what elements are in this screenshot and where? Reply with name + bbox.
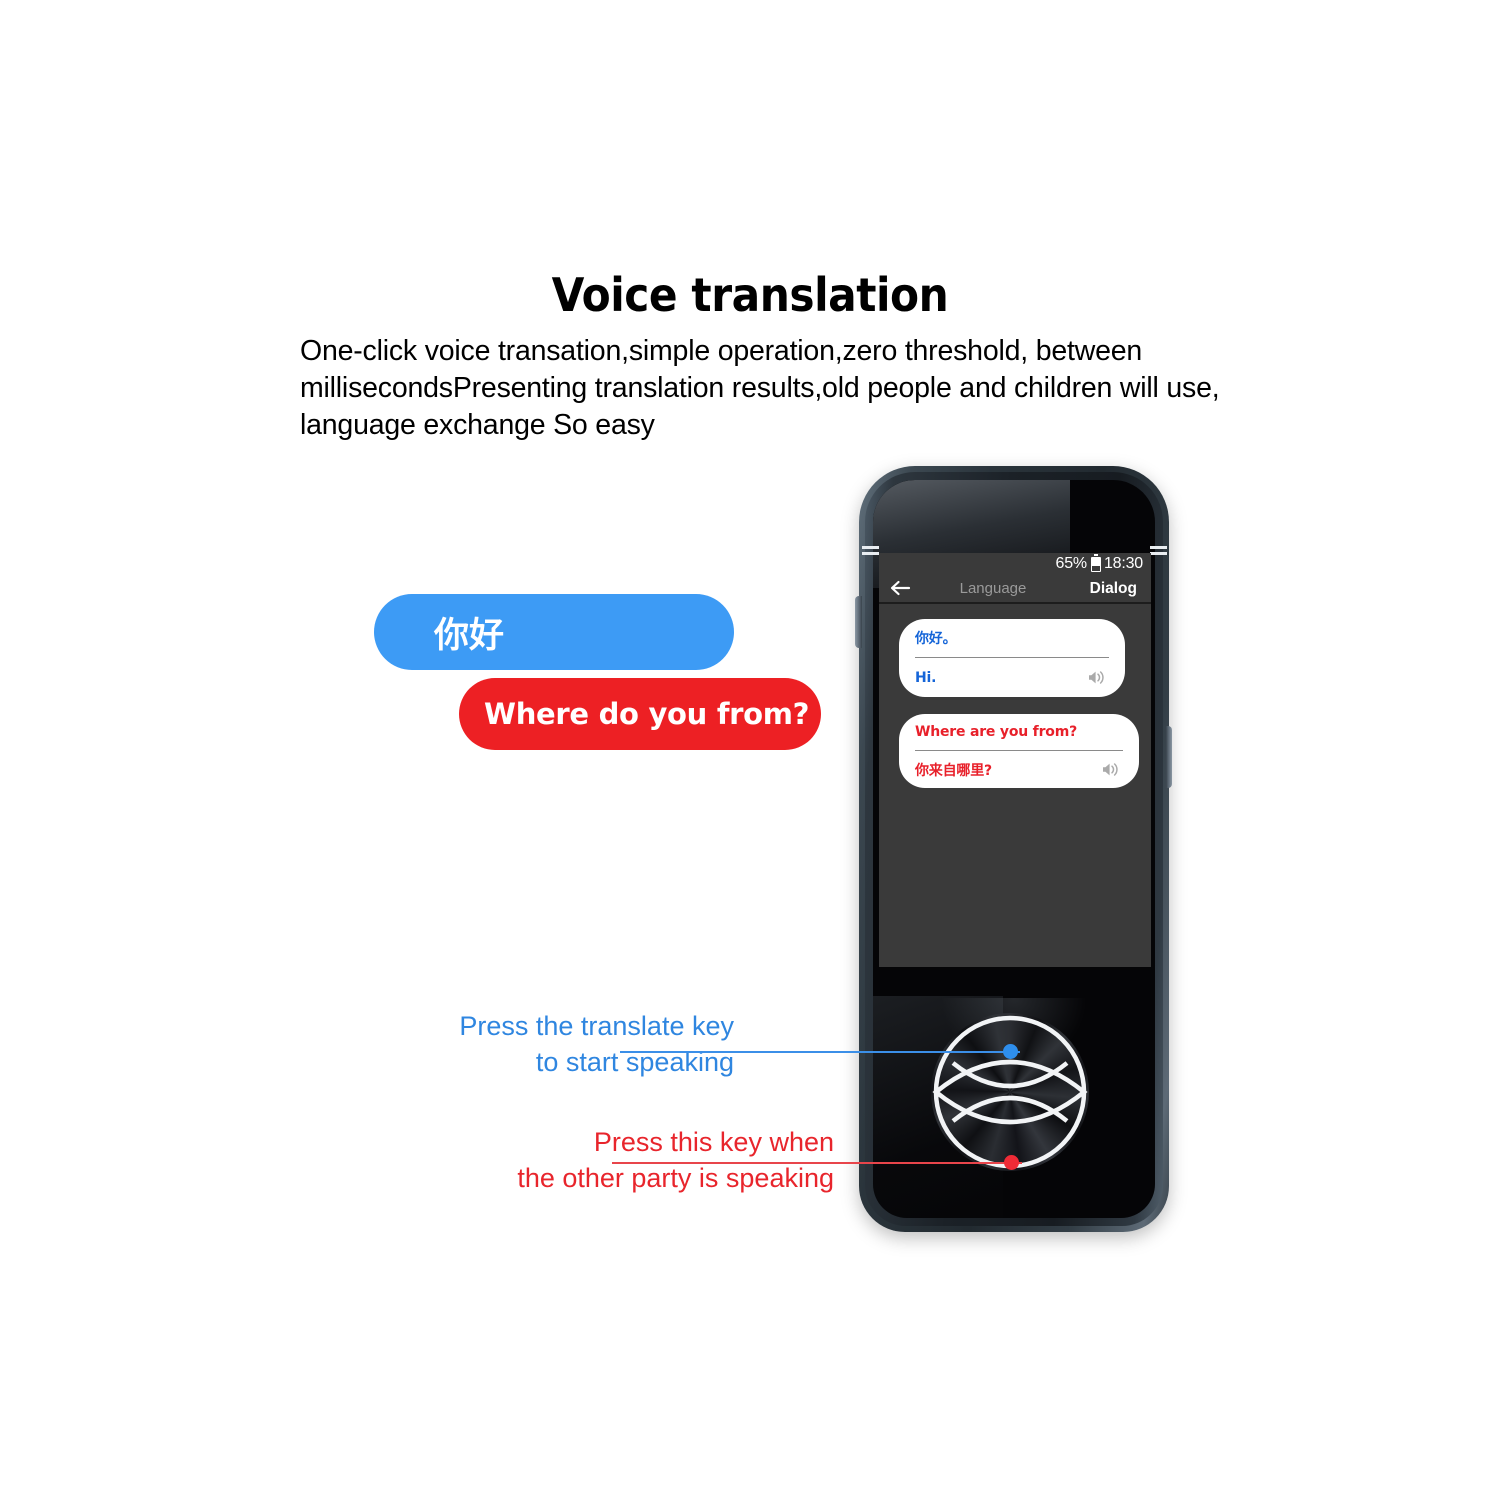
speech-bubble-reply: Where do you from? [459, 678, 821, 750]
leader-line-blue [620, 1051, 1020, 1053]
translate-key-button[interactable] [931, 1013, 1089, 1171]
battery-icon [1091, 557, 1101, 572]
nav-bar: Language Dialog [879, 575, 1151, 604]
dialog-card-source-row: 你好。 [915, 619, 1109, 658]
device-screen: 65% 18:30 Language Dialog 你好。 Hi. [879, 553, 1151, 967]
dialog-card-target-row: Hi. [915, 658, 1109, 697]
page-subtitle: One-click voice transation,simple operat… [300, 333, 1250, 444]
dialog-list: 你好。 Hi. Where are you from? 你来自哪里? [879, 604, 1151, 788]
callout-translate-key: Press the translate key to start speakin… [300, 1008, 734, 1080]
leader-dot-red [1004, 1155, 1019, 1170]
clock-label: 18:30 [1104, 555, 1143, 573]
dialog-card-target-row: 你来自哪里? [915, 751, 1123, 788]
leader-dot-blue [1003, 1044, 1018, 1059]
speech-bubble-source-text: 你好 [434, 607, 504, 658]
speaker-slit-left-icon [862, 546, 879, 560]
dialog-card-source-text: Where are you from? [915, 724, 1077, 740]
speaker-icon[interactable] [1088, 670, 1107, 685]
page-title: Voice translation [60, 268, 1440, 322]
battery-percent-label: 65% [1056, 555, 1087, 573]
tab-dialog[interactable]: Dialog [1090, 580, 1137, 598]
dialog-card-target-text: 你来自哪里? [915, 760, 992, 780]
status-bar: 65% 18:30 [879, 553, 1151, 575]
device-side-button-left[interactable] [855, 596, 862, 648]
dialog-card[interactable]: 你好。 Hi. [899, 619, 1125, 697]
device-side-button-right[interactable] [1166, 726, 1172, 788]
callout-listen-key: Press this key when the other party is s… [300, 1124, 834, 1196]
speech-bubble-source: 你好 [374, 594, 734, 670]
speaker-slit-right-icon [1150, 546, 1167, 560]
dialog-card[interactable]: Where are you from? 你来自哪里? [899, 714, 1139, 788]
dialog-card-source-row: Where are you from? [915, 714, 1123, 751]
leader-line-red [612, 1162, 1022, 1164]
speaker-icon[interactable] [1102, 762, 1121, 777]
dialog-card-target-text: Hi. [915, 670, 936, 686]
globe-translate-key-icon [931, 1013, 1089, 1171]
speech-bubble-reply-text: Where do you from? [484, 697, 809, 731]
dialog-card-source-text: 你好。 [915, 628, 956, 648]
